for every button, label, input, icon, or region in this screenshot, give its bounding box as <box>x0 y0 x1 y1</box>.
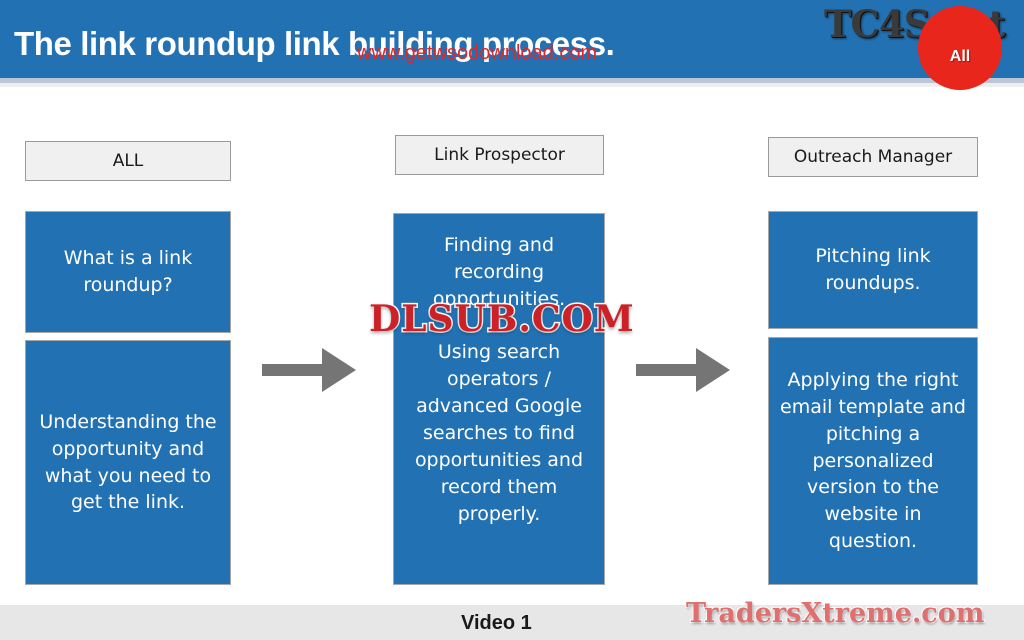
process-box-search-operators-text: Using search operators / advanced Google… <box>404 339 594 528</box>
slide-canvas: The link roundup link building process. … <box>0 0 1024 640</box>
process-box-applying-email-template: Applying the right email template and pi… <box>768 337 978 585</box>
process-box-finding-recording: Finding and recording opportunities. Usi… <box>393 213 605 585</box>
brand-logo-badge-label: All <box>918 48 1002 66</box>
video-label: Video 1 <box>461 612 532 635</box>
column-header-outreach-manager: Outreach Manager <box>768 137 978 177</box>
column-header-all: ALL <box>25 141 231 181</box>
brand-logo: TC4S.net All <box>824 0 1020 92</box>
tradersxtreme-watermark: TradersXtreme.com <box>686 598 984 629</box>
process-box-pitching-link-roundups: Pitching link roundups. <box>768 211 978 329</box>
header-watermark: www.getwsodownload.com <box>357 42 597 65</box>
column-header-link-prospector: Link Prospector <box>395 135 604 175</box>
brand-logo-circle-icon: All <box>918 6 1002 90</box>
arrow-right-icon <box>260 341 360 404</box>
arrow-right-icon-2 <box>634 341 734 404</box>
process-box-what-is-link-roundup: What is a link roundup? <box>25 211 231 333</box>
dlsub-watermark: DLSUB.COM <box>369 298 635 340</box>
process-box-understanding-opportunity: Understanding the opportunity and what y… <box>25 340 231 585</box>
